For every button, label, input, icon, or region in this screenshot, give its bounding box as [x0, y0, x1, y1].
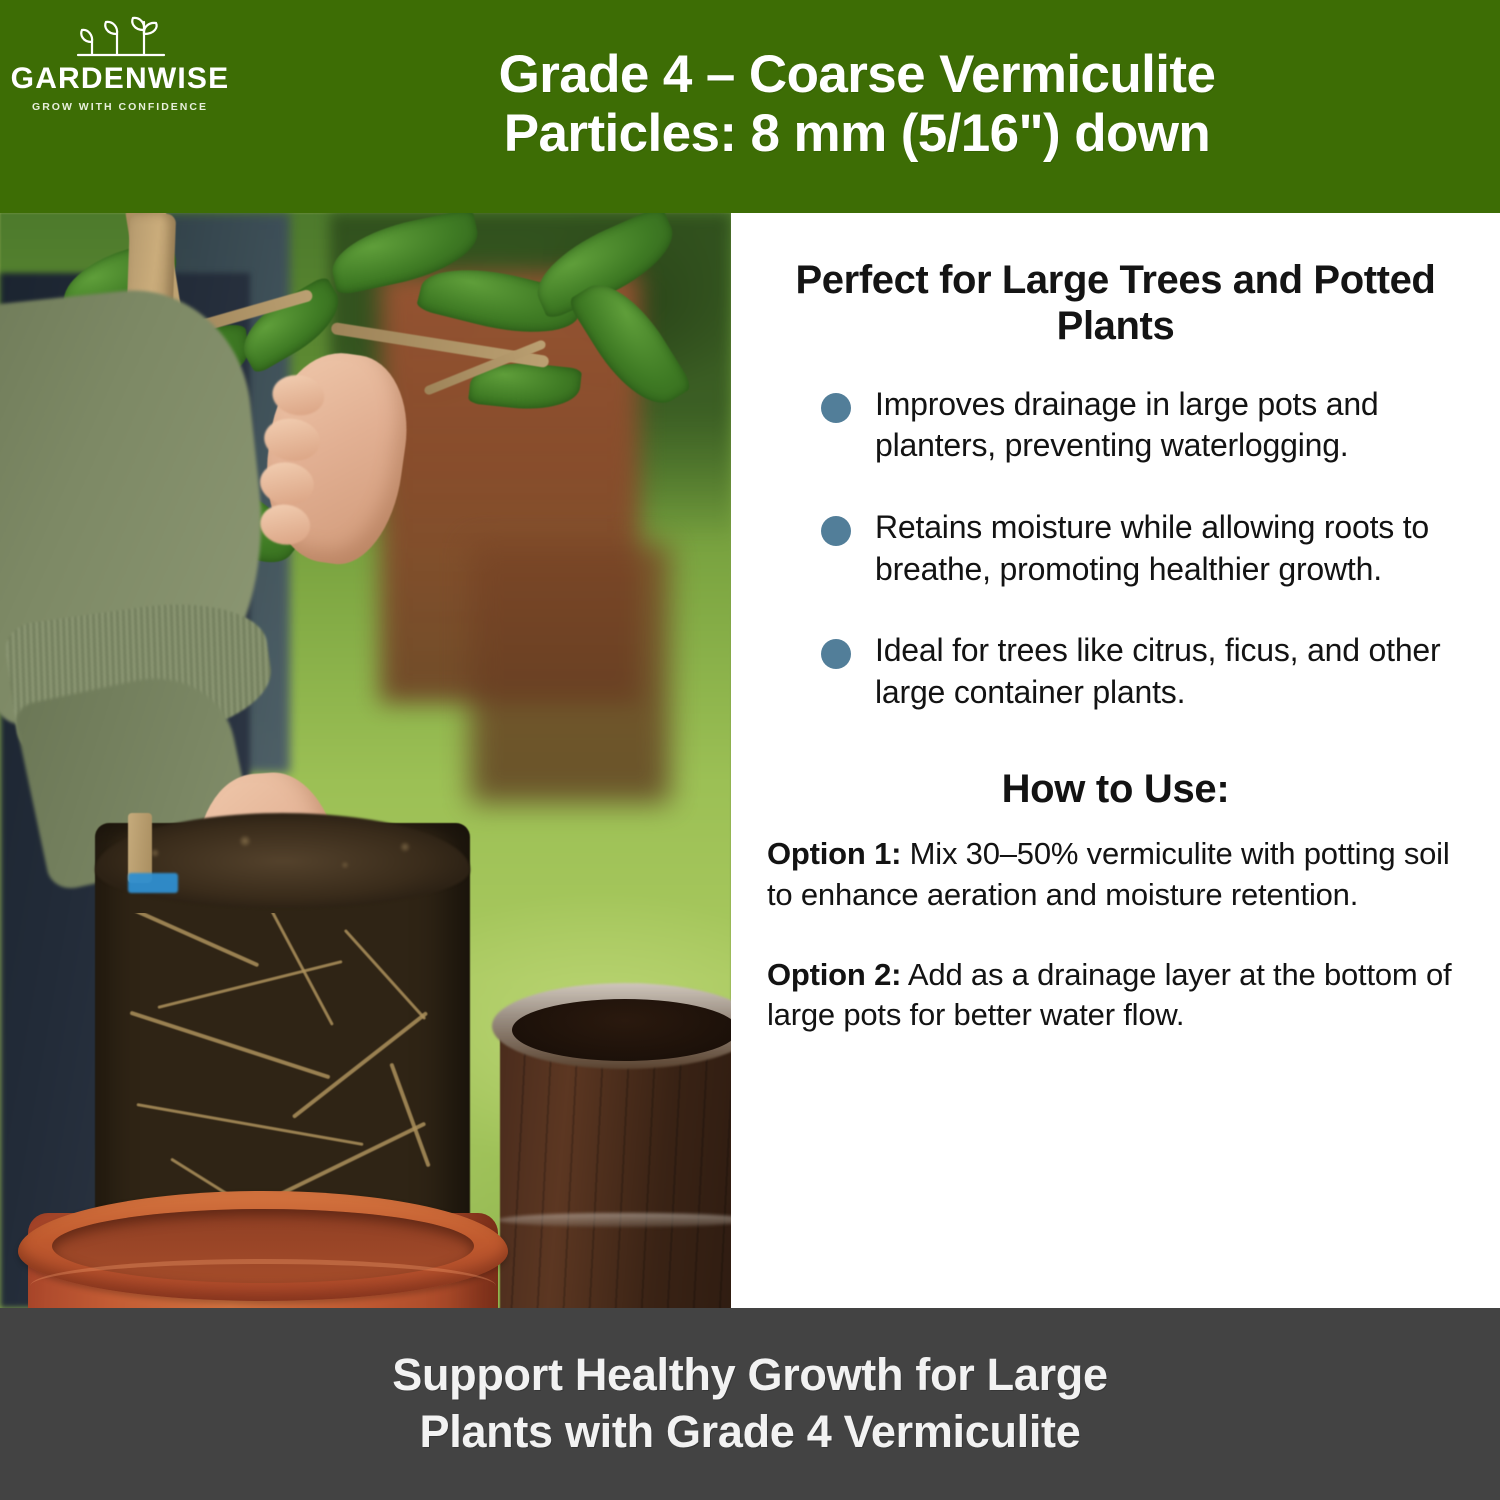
brand-tagline: GROW WITH CONFIDENCE — [32, 101, 208, 113]
photo-pot-ring — [30, 1259, 496, 1308]
section-title: Perfect for Large Trees and Potted Plant… — [767, 257, 1464, 350]
product-infographic: GARDENWISE GROW WITH CONFIDENCE Grade 4 … — [0, 0, 1500, 1500]
benefits-panel: Perfect for Large Trees and Potted Plant… — [731, 213, 1500, 1308]
bullet-dot-icon — [821, 393, 851, 423]
body-area: Perfect for Large Trees and Potted Plant… — [0, 213, 1500, 1308]
list-item: Improves drainage in large pots and plan… — [821, 384, 1458, 467]
photo-wall-shadow — [470, 543, 670, 803]
header-title-line2: Particles: 8 mm (5/16") down — [240, 105, 1474, 163]
list-item-label: Ideal for trees like citrus, ficus, and … — [875, 630, 1458, 713]
three-sprouts-icon — [70, 14, 170, 62]
list-item: Ideal for trees like citrus, ficus, and … — [821, 630, 1458, 713]
usage-option-2: Option 2: Add as a drainage layer at the… — [767, 955, 1464, 1036]
product-photo — [0, 213, 731, 1308]
footer-line2: Plants with Grade 4 Vermiculite — [392, 1404, 1107, 1461]
footer-banner: Support Healthy Growth for Large Plants … — [0, 1308, 1500, 1500]
brand-logo: GARDENWISE GROW WITH CONFIDENCE — [0, 0, 240, 213]
list-item-label: Improves drainage in large pots and plan… — [875, 384, 1458, 467]
usage-option-1-label: Option 1: — [767, 836, 901, 871]
bullet-dot-icon — [821, 516, 851, 546]
footer-text-group: Support Healthy Growth for Large Plants … — [392, 1347, 1107, 1460]
benefits-list: Improves drainage in large pots and plan… — [767, 384, 1464, 714]
header-banner: GARDENWISE GROW WITH CONFIDENCE Grade 4 … — [0, 0, 1500, 213]
usage-option-1: Option 1: Mix 30–50% vermiculite with po… — [767, 834, 1464, 915]
footer-line1: Support Healthy Growth for Large — [392, 1347, 1107, 1404]
list-item: Retains moisture while allowing roots to… — [821, 507, 1458, 590]
usage-option-2-label: Option 2: — [767, 957, 901, 992]
photo-barrel-opening — [512, 999, 731, 1061]
header-title-group: Grade 4 – Coarse Vermiculite Particles: … — [240, 46, 1500, 167]
list-item-label: Retains moisture while allowing roots to… — [875, 507, 1458, 590]
photo-blue-label — [128, 873, 178, 893]
bullet-dot-icon — [821, 639, 851, 669]
how-to-use-title: How to Use: — [767, 767, 1464, 812]
header-title-line1: Grade 4 – Coarse Vermiculite — [240, 46, 1474, 104]
brand-name: GARDENWISE — [11, 64, 230, 94]
